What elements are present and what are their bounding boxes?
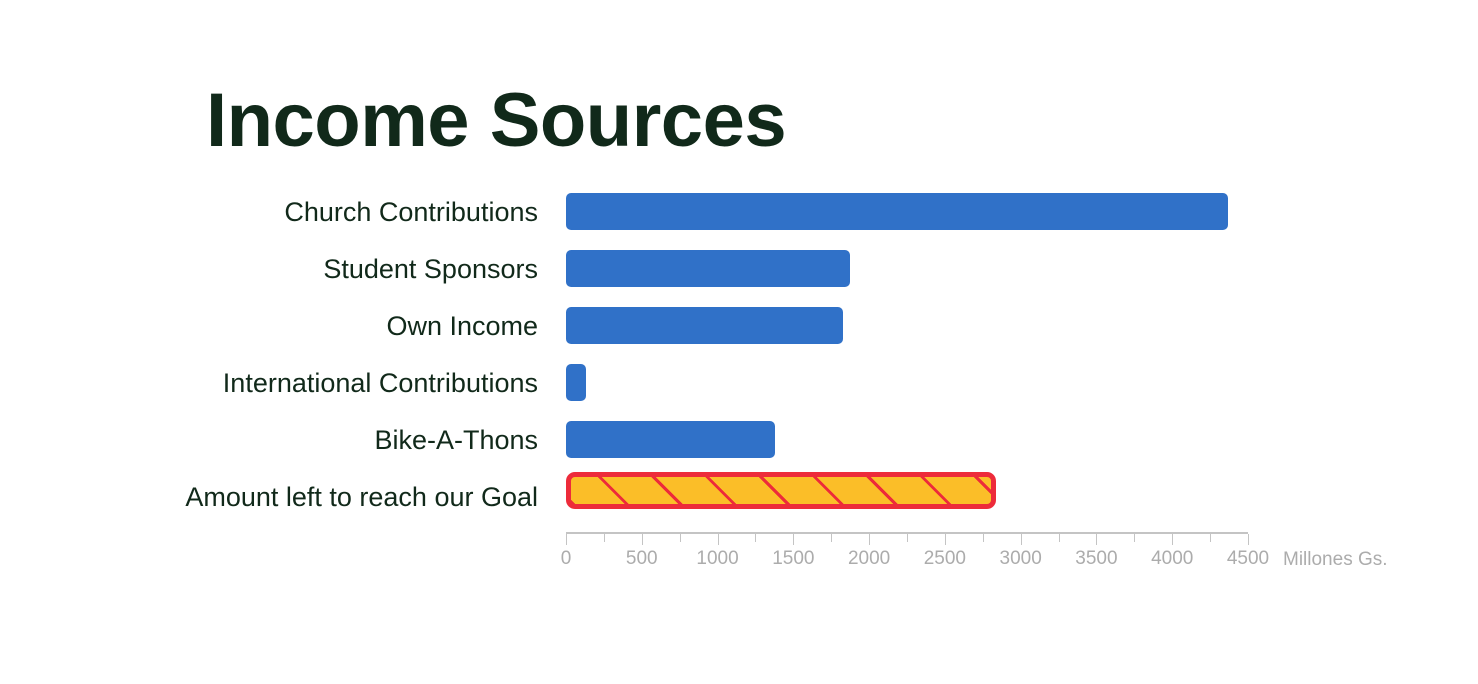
x-axis-tick-minor <box>755 534 756 542</box>
x-axis: 050010001500200025003000350040004500 <box>566 532 1248 533</box>
category-label-own-income: Own Income <box>18 311 538 341</box>
x-axis-tick-major <box>566 534 567 545</box>
x-axis-tick-major <box>1248 534 1249 545</box>
x-axis-tick-minor <box>831 534 832 542</box>
x-axis-tick-label: 3000 <box>1000 548 1042 570</box>
category-label-student-sponsors: Student Sponsors <box>18 254 538 284</box>
x-axis-tick-label: 500 <box>626 548 658 570</box>
x-axis-tick-major <box>1096 534 1097 545</box>
x-axis-tick-major <box>793 534 794 545</box>
x-axis-tick-minor <box>907 534 908 542</box>
x-axis-tick-label: 0 <box>561 548 572 570</box>
x-axis-tick-label: 1500 <box>772 548 814 570</box>
x-axis-tick-label: 2500 <box>924 548 966 570</box>
x-axis-tick-minor <box>983 534 984 542</box>
bar-church-contributions <box>566 193 1228 230</box>
bar-international-contributions <box>566 364 586 401</box>
x-axis-tick-label: 2000 <box>848 548 890 570</box>
x-axis-tick-minor <box>1059 534 1060 542</box>
chart-canvas: Income Sources Church Contributions Stud… <box>0 0 1478 684</box>
x-axis-tick-minor <box>1134 534 1135 542</box>
x-axis-tick-major <box>1021 534 1022 545</box>
bar-amount-left-to-reach-goal <box>566 472 996 509</box>
x-axis-unit-label: Millones Gs. <box>1283 549 1388 571</box>
x-axis-tick-label: 1000 <box>696 548 738 570</box>
x-axis-tick-label: 4500 <box>1227 548 1269 570</box>
x-axis-tick-major <box>869 534 870 545</box>
x-axis-tick-minor <box>604 534 605 542</box>
category-label-bike-a-thons: Bike-A-Thons <box>18 425 538 455</box>
category-label-international-contributions: International Contributions <box>18 368 538 398</box>
x-axis-tick-minor <box>1210 534 1211 542</box>
category-label-amount-left-to-reach-goal: Amount left to reach our Goal <box>18 482 538 512</box>
category-label-church-contributions: Church Contributions <box>18 197 538 227</box>
x-axis-tick-label: 4000 <box>1151 548 1193 570</box>
x-axis-tick-major <box>718 534 719 545</box>
bar-chart-plot-area: Church Contributions Student Sponsors Ow… <box>0 0 1478 684</box>
bar-bike-a-thons <box>566 421 775 458</box>
bar-own-income <box>566 307 843 344</box>
x-axis-tick-major <box>945 534 946 545</box>
x-axis-tick-label: 3500 <box>1075 548 1117 570</box>
x-axis-tick-major <box>1172 534 1173 545</box>
bar-student-sponsors <box>566 250 850 287</box>
x-axis-tick-major <box>642 534 643 545</box>
x-axis-tick-minor <box>680 534 681 542</box>
